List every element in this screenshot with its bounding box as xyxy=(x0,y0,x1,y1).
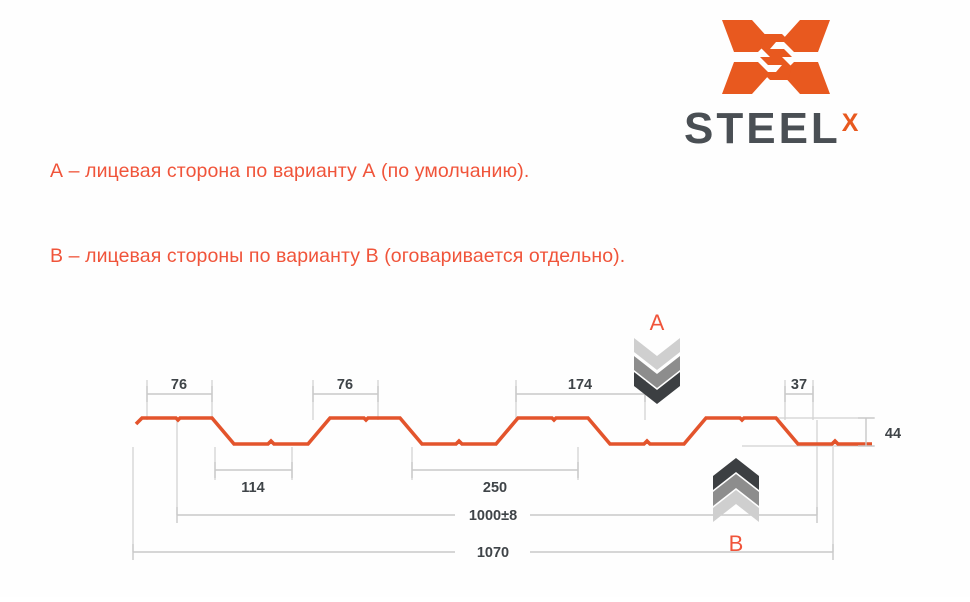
dim-label-cover-width: 1000±8 xyxy=(469,508,517,524)
witness-lines xyxy=(133,380,875,552)
dim-label-top-left-crest: 76 xyxy=(171,377,187,393)
corrugated-profile-path xyxy=(136,418,872,444)
top-dimension-lines xyxy=(147,386,813,402)
dim-label-valley-mid: 250 xyxy=(483,480,507,496)
face-a-label: A xyxy=(650,310,665,335)
face-a-marker: A xyxy=(634,310,680,404)
profile-technical-drawing: 76 76 174 37 114 250 44 1000±8 1070 A xyxy=(0,0,970,597)
dim-label-top-mid-crest: 76 xyxy=(337,377,353,393)
height-dimension xyxy=(858,418,874,446)
face-b-label: B xyxy=(729,531,744,556)
dim-label-total-width: 1070 xyxy=(477,545,509,561)
valley-dimension-lines xyxy=(215,462,578,478)
dim-label-edge-crest: 37 xyxy=(791,377,807,393)
dim-label-valley-left: 114 xyxy=(241,480,264,496)
dim-label-height: 44 xyxy=(885,426,901,442)
dim-label-pitch: 174 xyxy=(568,377,592,393)
face-b-marker: B xyxy=(713,458,759,556)
